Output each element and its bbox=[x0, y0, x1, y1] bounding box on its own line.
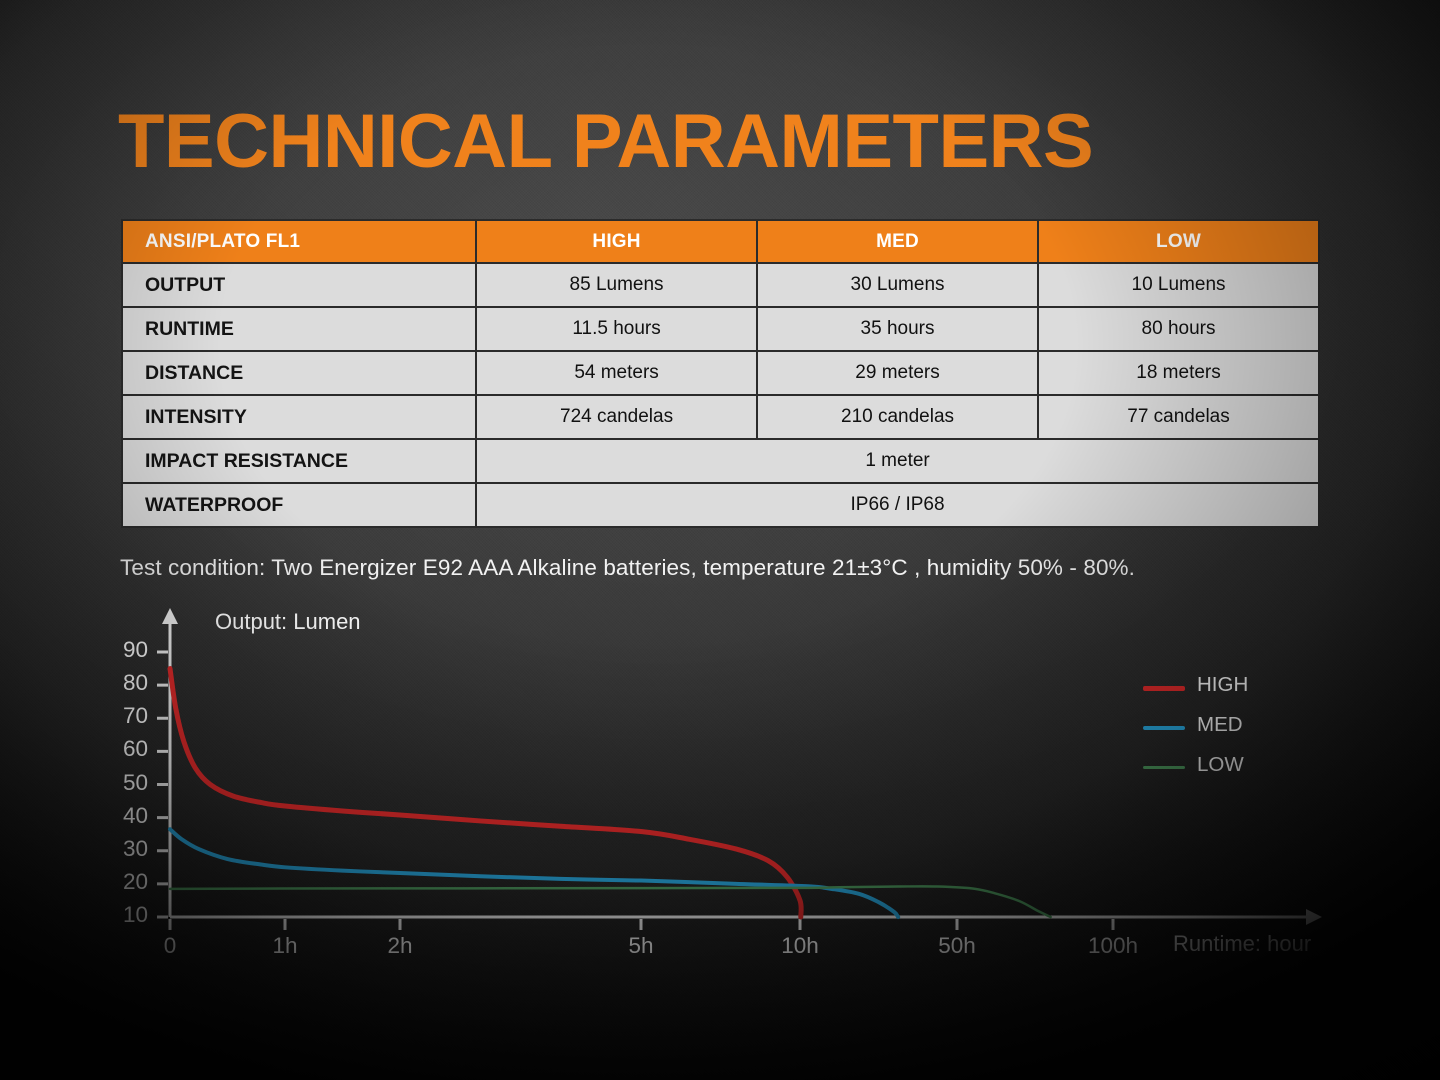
table-header-row: ANSI/PLATO FL1 HIGH MED LOW bbox=[123, 221, 1318, 262]
chart-x-tick-label: 2h bbox=[355, 933, 445, 959]
cell-output-high: 85 Lumens bbox=[477, 264, 756, 306]
cell-output-low: 10 Lumens bbox=[1039, 264, 1318, 306]
column-header-med: MED bbox=[758, 221, 1037, 262]
cell-intensity-med: 210 candelas bbox=[758, 396, 1037, 438]
chart-y-tick-label: 60 bbox=[102, 736, 148, 762]
table-row: INTENSITY 724 candelas 210 candelas 77 c… bbox=[123, 396, 1318, 438]
chart-y-tick-label: 50 bbox=[102, 770, 148, 796]
cell-intensity-high: 724 candelas bbox=[477, 396, 756, 438]
legend-swatch-med bbox=[1143, 726, 1185, 730]
legend-swatch-high bbox=[1143, 686, 1185, 691]
slide-canvas: TECHNICAL PARAMETERS ANSI/PLATO FL1 HIGH… bbox=[0, 0, 1440, 1080]
table-row: IMPACT RESISTANCE 1 meter bbox=[123, 440, 1318, 482]
cell-distance-low: 18 meters bbox=[1039, 352, 1318, 394]
row-label-output: OUTPUT bbox=[123, 264, 475, 306]
chart-y-tick-label: 20 bbox=[102, 869, 148, 895]
chart-x-tick-label: 5h bbox=[596, 933, 686, 959]
cell-output-med: 30 Lumens bbox=[758, 264, 1037, 306]
chart-x-axis-title: Runtime: hour bbox=[1173, 931, 1311, 957]
chart-y-tick-label: 30 bbox=[102, 836, 148, 862]
cell-intensity-low: 77 candelas bbox=[1039, 396, 1318, 438]
page-title: TECHNICAL PARAMETERS bbox=[118, 104, 1093, 180]
table-body: OUTPUT 85 Lumens 30 Lumens 10 Lumens RUN… bbox=[123, 264, 1318, 526]
chart-y-tick-label: 70 bbox=[102, 703, 148, 729]
chart-y-tick-label: 40 bbox=[102, 803, 148, 829]
legend-label-med: MED bbox=[1197, 713, 1243, 737]
column-header-ansi: ANSI/PLATO FL1 bbox=[123, 221, 475, 262]
table-header: ANSI/PLATO FL1 HIGH MED LOW bbox=[123, 221, 1318, 262]
cell-impact-resistance-value: 1 meter bbox=[477, 440, 1318, 482]
cell-distance-high: 54 meters bbox=[477, 352, 756, 394]
row-label-impact-resistance: IMPACT RESISTANCE bbox=[123, 440, 475, 482]
chart-y-tick-label: 10 bbox=[102, 902, 148, 928]
table-row: OUTPUT 85 Lumens 30 Lumens 10 Lumens bbox=[123, 264, 1318, 306]
cell-waterproof-value: IP66 / IP68 bbox=[477, 484, 1318, 526]
chart-y-tick-label: 80 bbox=[102, 670, 148, 696]
column-header-high: HIGH bbox=[477, 221, 756, 262]
legend-swatch-low bbox=[1143, 766, 1185, 769]
chart-y-tick-label: 90 bbox=[102, 637, 148, 663]
chart-x-tick-label: 10h bbox=[755, 933, 845, 959]
chart-x-tick-label: 0 bbox=[125, 933, 215, 959]
row-label-waterproof: WATERPROOF bbox=[123, 484, 475, 526]
technical-parameters-table: ANSI/PLATO FL1 HIGH MED LOW OUTPUT 85 Lu… bbox=[121, 219, 1320, 528]
chart-x-tick-label: 100h bbox=[1068, 933, 1158, 959]
table-row: WATERPROOF IP66 / IP68 bbox=[123, 484, 1318, 526]
row-label-runtime: RUNTIME bbox=[123, 308, 475, 350]
test-condition-note: Test condition: Two Energizer E92 AAA Al… bbox=[120, 555, 1135, 581]
cell-runtime-low: 80 hours bbox=[1039, 308, 1318, 350]
table-row: DISTANCE 54 meters 29 meters 18 meters bbox=[123, 352, 1318, 394]
legend-label-high: HIGH bbox=[1197, 673, 1248, 697]
cell-runtime-high: 11.5 hours bbox=[477, 308, 756, 350]
cell-runtime-med: 35 hours bbox=[758, 308, 1037, 350]
table-row: RUNTIME 11.5 hours 35 hours 80 hours bbox=[123, 308, 1318, 350]
row-label-intensity: INTENSITY bbox=[123, 396, 475, 438]
row-label-distance: DISTANCE bbox=[123, 352, 475, 394]
chart-y-axis-title: Output: Lumen bbox=[215, 609, 361, 635]
chart-x-tick-label: 1h bbox=[240, 933, 330, 959]
column-header-low: LOW bbox=[1039, 221, 1318, 262]
cell-distance-med: 29 meters bbox=[758, 352, 1037, 394]
chart-x-tick-label: 50h bbox=[912, 933, 1002, 959]
legend-label-low: LOW bbox=[1197, 753, 1244, 777]
